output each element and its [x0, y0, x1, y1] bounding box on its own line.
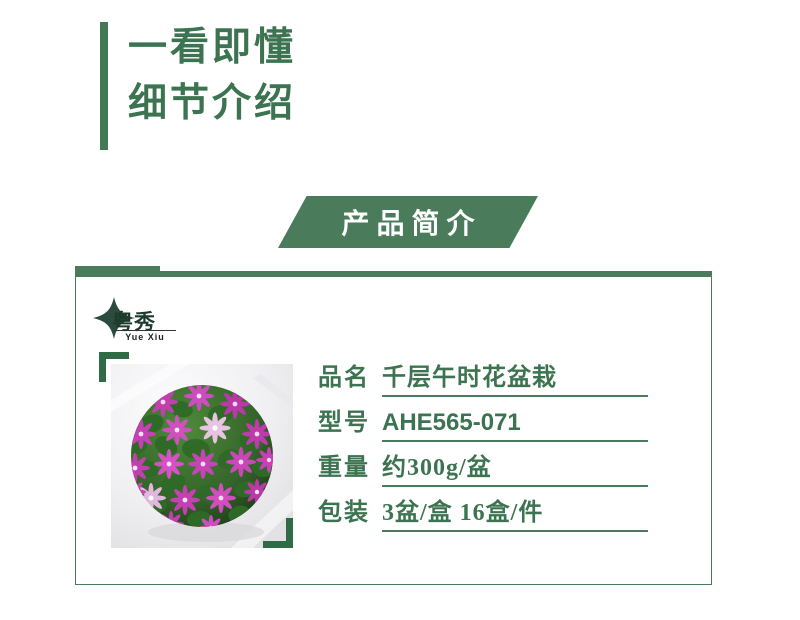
product-spec-list: 品名 千层午时花盆栽 型号 AHE565-071 重量 约300g/盆 包装 3…: [318, 352, 648, 532]
spec-row-weight: 重量 约300g/盆: [318, 442, 648, 487]
spec-label: 重量: [318, 447, 370, 487]
banner-label: 产品简介: [278, 196, 538, 248]
spec-row-packaging: 包装 3盆/盒 16盒/件: [318, 487, 648, 532]
spec-label: 品名: [318, 357, 370, 397]
spec-value: 约300g/盆: [382, 447, 648, 487]
spec-row-model: 型号 AHE565-071: [318, 397, 648, 442]
spec-value: 千层午时花盆栽: [382, 357, 648, 397]
spec-label: 包装: [318, 492, 370, 532]
heading-line-2: 细节介绍: [128, 76, 508, 132]
spec-value: AHE565-071: [382, 409, 648, 442]
product-intro-banner: 产品简介: [278, 196, 538, 248]
brand-name-en: Yue Xiu: [114, 330, 176, 342]
spec-row-name: 品名 千层午时花盆栽: [318, 352, 648, 397]
spec-label: 型号: [318, 402, 370, 442]
product-photo-area: [99, 352, 293, 548]
brand-logo: 粤秀 Yue Xiu: [92, 296, 184, 346]
spec-value: 3盆/盒 16盒/件: [382, 492, 648, 532]
photo-bracket-bottom-right: [263, 518, 293, 548]
heading-text-group: 一看即懂 细节介绍: [128, 20, 508, 132]
section-heading: 一看即懂 细节介绍: [100, 20, 520, 152]
heading-line-1: 一看即懂: [128, 20, 508, 76]
photo-bracket-top-left: [99, 352, 129, 382]
heading-accent-bar: [100, 22, 108, 150]
